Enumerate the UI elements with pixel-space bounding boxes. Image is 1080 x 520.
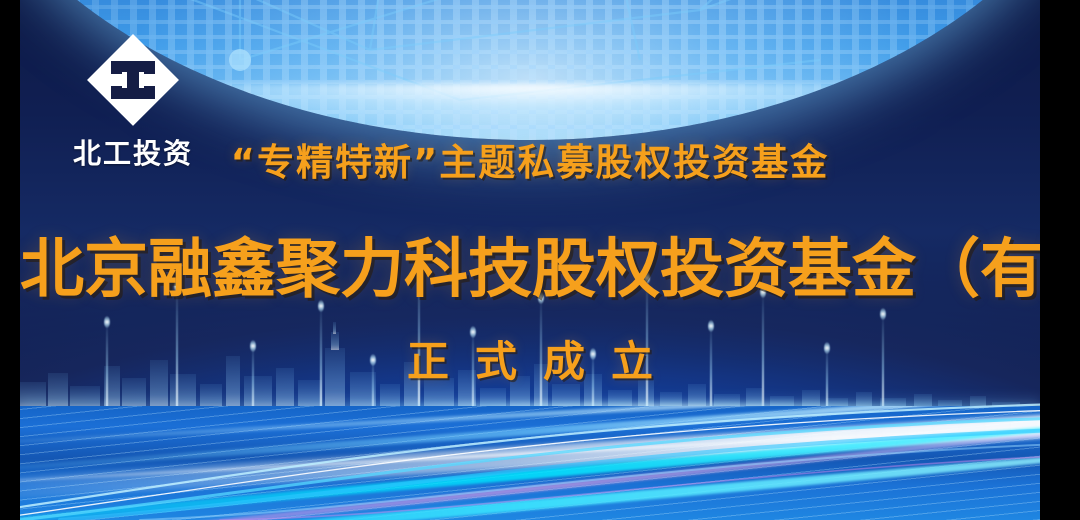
letterbox-left (0, 0, 20, 520)
footer-text: 正式成立 (20, 328, 1040, 389)
letterbox-right (1040, 0, 1080, 520)
headline-block: “专精特新”主题私募股权投资基金 北京融鑫聚力科技股权投资基金（有限合伙） 正式… (20, 0, 1040, 520)
page-title: 北京融鑫聚力科技股权投资基金（有限合伙） (20, 218, 1040, 310)
banner-poster: 北工投资 “专精特新”主题私募股权投资基金 北京融鑫聚力科技股权投资基金（有限合… (0, 0, 1080, 520)
subtitle-text: “专精特新”主题私募股权投资基金 (20, 132, 1040, 186)
poster-artwork: 北工投资 “专精特新”主题私募股权投资基金 北京融鑫聚力科技股权投资基金（有限合… (20, 0, 1040, 520)
